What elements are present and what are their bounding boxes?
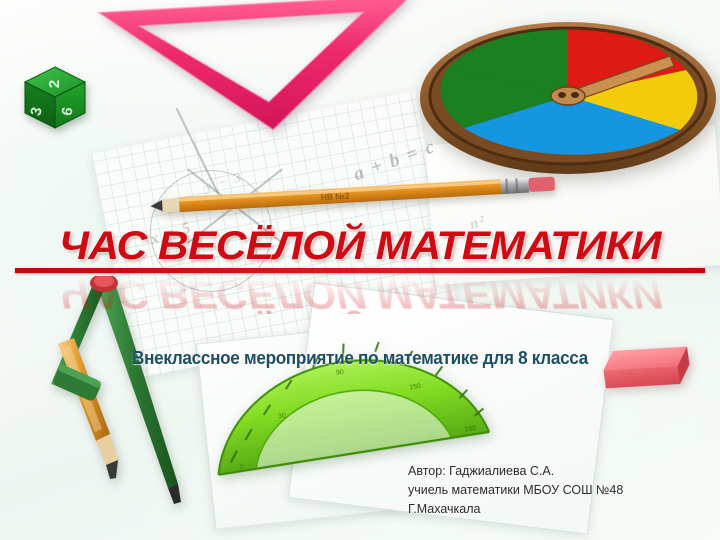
title-reflection: ЧАС ВЕСЁЛОЙ МАТЕМАТИКИ	[0, 274, 720, 314]
author-city: Г.Махачкала	[408, 500, 708, 519]
svg-text:2: 2	[46, 80, 63, 88]
number-cube-icon: 2 3 6	[22, 64, 88, 132]
eraser-icon	[594, 335, 705, 407]
svg-text:HB №2: HB №2	[320, 191, 350, 203]
spinner-wheel-icon	[418, 18, 718, 178]
author-school: учиель математики МБОУ СОШ №48	[408, 481, 708, 500]
page-subtitle: Внеклассное мероприятие по математике дл…	[18, 348, 702, 369]
svg-text:90: 90	[336, 369, 345, 377]
author-name: Автор: Гаджиалиева С.А.	[408, 462, 708, 481]
presentation-slide: a + b = c x = 5 n² y − 3	[0, 0, 720, 540]
author-block: Автор: Гаджиалиева С.А. учиель математик…	[408, 462, 708, 519]
page-title: ЧАС ВЕСЁЛОЙ МАТЕМАТИКИ	[0, 226, 720, 266]
svg-text:30: 30	[278, 412, 287, 420]
title-block: ЧАС ВЕСЁЛОЙ МАТЕМАТИКИ ЧАС ВЕСЁЛОЙ МАТЕМ…	[0, 226, 720, 314]
title-underline	[15, 268, 705, 273]
triangle-ruler-icon	[95, 0, 418, 137]
